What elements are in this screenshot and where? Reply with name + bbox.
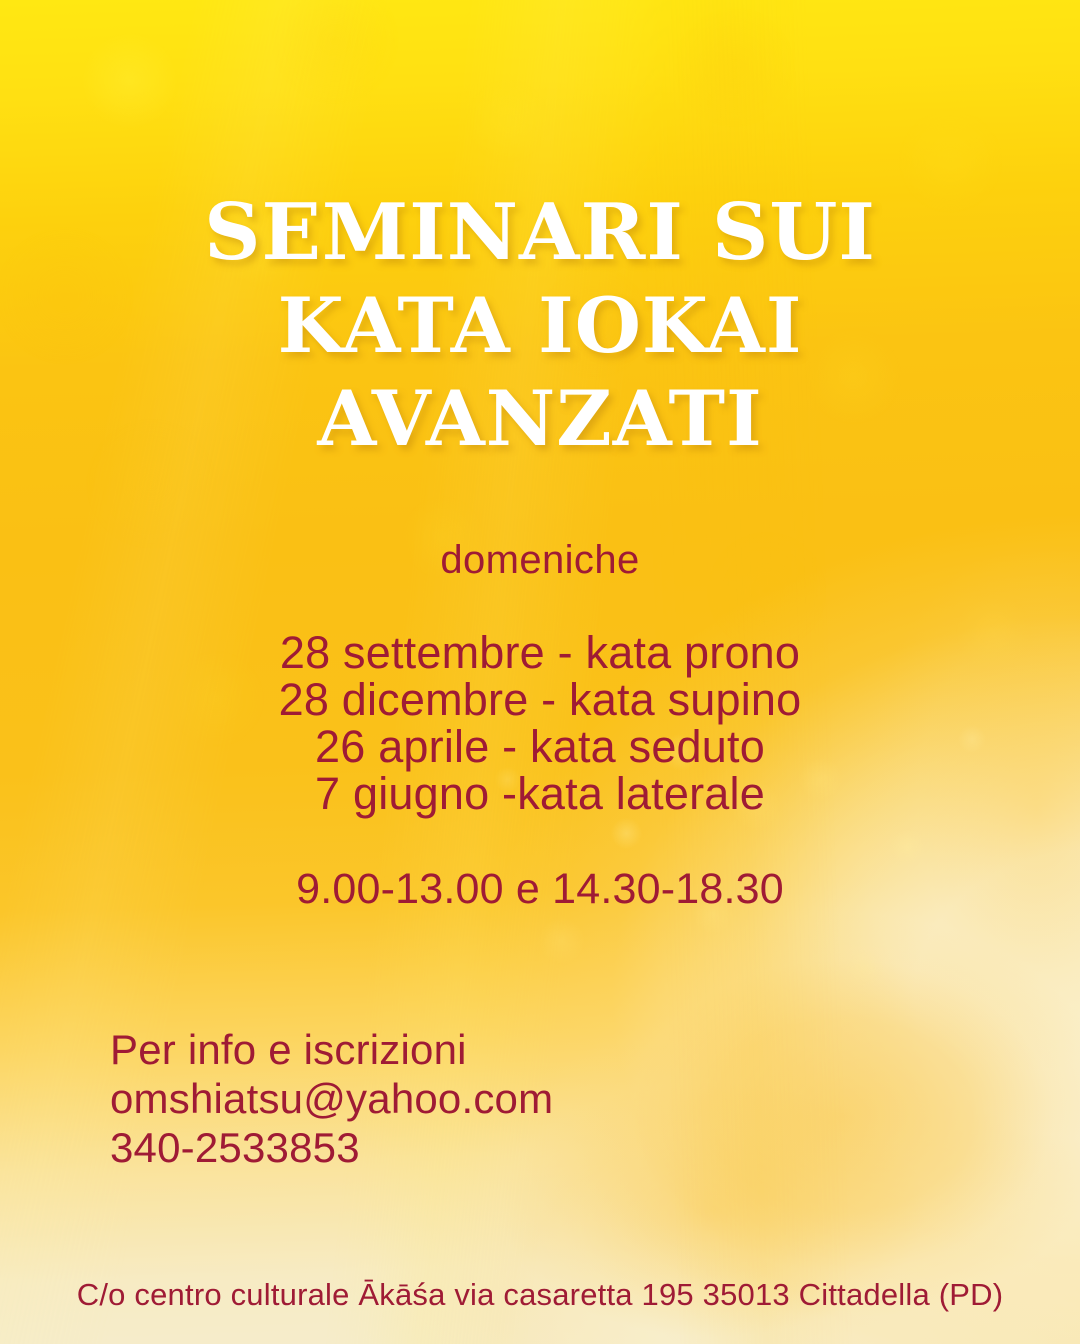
session-hours: 9.00-13.00 e 14.30-18.30 xyxy=(0,864,1080,914)
title-line-3: AVANZATI xyxy=(0,372,1080,465)
session-item: 7 giugno -kata laterale xyxy=(0,771,1080,816)
poster-content: SEMINARI SUI KATA IOKAI AVANZATI domenic… xyxy=(0,0,1080,1344)
contact-email[interactable]: omshiatsu@yahoo.com xyxy=(110,1074,553,1123)
session-item: 26 aprile - kata seduto xyxy=(0,724,1080,769)
contact-phone[interactable]: 340-2533853 xyxy=(110,1123,553,1172)
poster-title: SEMINARI SUI KATA IOKAI AVANZATI xyxy=(0,186,1080,465)
session-item: 28 settembre - kata prono xyxy=(0,630,1080,675)
session-item: 28 dicembre - kata supino xyxy=(0,677,1080,722)
contact-heading: Per info e iscrizioni xyxy=(110,1025,553,1074)
subtitle-domeniche: domeniche xyxy=(0,537,1080,583)
venue-address: C/o centro culturale Ākāśa via casaretta… xyxy=(0,1276,1080,1314)
contact-block: Per info e iscrizioni omshiatsu@yahoo.co… xyxy=(110,1025,553,1172)
session-list: 28 settembre - kata prono 28 dicembre - … xyxy=(0,630,1080,816)
poster-canvas: SEMINARI SUI KATA IOKAI AVANZATI domenic… xyxy=(0,0,1080,1344)
title-line-2: KATA IOKAI xyxy=(0,279,1080,372)
title-line-1: SEMINARI SUI xyxy=(0,186,1080,279)
